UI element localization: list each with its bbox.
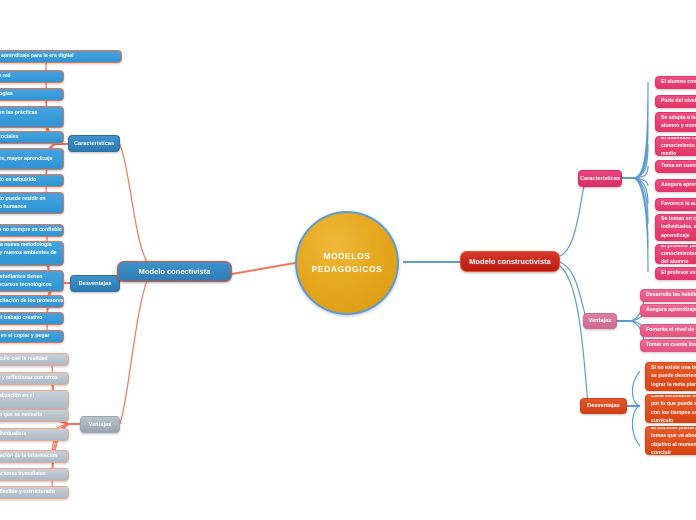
leaf-node[interactable]: El alumno construye su conocimiento [655,76,696,89]
category-desventajas-conectivista[interactable]: Desventajas [70,275,120,292]
leaf-node[interactable]: Se puede caer en el copiar y pegar [0,330,64,343]
category-caracteristicas-constructivista[interactable]: Características [578,170,622,187]
category-ventajas-constructivista[interactable]: Ventajas [583,313,617,329]
category-desventajas-constructivista[interactable]: Desventajas [580,398,627,414]
leaf-node[interactable]: Puede limitar el trabajo creativo [0,312,64,325]
center-title-line2: PEDAGOGICOS [312,263,383,276]
leaf-node[interactable]: No todos los estudiantes tienen acceso a… [0,270,64,292]
leaf-node[interactable]: Uso de redes sociales [0,131,64,144]
center-title-line1: MODELOS [312,250,383,263]
leaf-node[interactable]: Toma en cuenta los saberes previos [655,160,696,173]
leaf-node[interactable]: Asegura aprendizajes significativos [655,179,696,192]
leaf-node[interactable]: Aprendizaje en red [0,70,64,83]
category-caracteristicas-conectivista[interactable]: Características [68,135,120,152]
leaf-node[interactable]: Es un proceso individualista [0,428,69,441]
branch-modelo-conectivista[interactable]: Modelo conectivista [117,261,232,282]
leaf-node[interactable]: Si no existe una buena planificación se … [645,362,696,391]
leaf-node[interactable]: Nuevas tecnologías [0,88,64,101]
category-ventajas-conectivista[interactable]: Ventajas [80,416,120,433]
leaf-node[interactable]: Desarrolla las habilidades del pensamien… [640,289,696,302]
leaf-node[interactable]: El conocimiento es adquirido [0,174,64,187]
leaf-node[interactable]: Relaciona el currículo con la realidad [0,353,69,366]
leaf-node[interactable]: Se toman en cuenta las diferencias indiv… [655,214,696,241]
leaf-node[interactable]: Fomenta el nivel de desarrollo del alumn… [640,324,696,337]
leaf-node[interactable]: Tomar en cuenta los saberes previos [640,339,696,352]
leaf-node[interactable]: El docente puede perderse en los temas q… [645,426,696,455]
leaf-node[interactable]: Parte del nivel de desarrollo del alumno [655,95,696,108]
leaf-node[interactable]: Se adapta a las necesidades del alumno y… [655,112,696,132]
leaf-node[interactable]: El profesor es un mediador del aprendiza… [655,267,696,280]
leaf-node[interactable]: Es una teoría del aprendizaje para la er… [0,50,122,63]
leaf-node[interactable]: El conocimiento puede residir en disposi… [0,192,64,214]
mindmap-canvas[interactable]: MODELOS PEDAGOGICOS Modelo conectivista … [0,0,696,520]
leaf-node[interactable]: El aprendizaje es flexible y estructurad… [0,486,69,499]
leaf-node[interactable]: Más conexiones, mayor aprendizaje [0,148,64,170]
leaf-node[interactable]: Permite comunicaciones inmediatas [0,468,69,481]
leaf-node[interactable]: Cada estudiante lleva su propio ritmo, p… [645,394,696,423]
leaf-node[interactable]: Se requiere una nueva metodología de ens… [0,241,64,266]
leaf-node[interactable]: Favorece la autonomía del estudiante [655,198,696,211]
leaf-node[interactable]: Innovaciones en las prácticas pedagógica… [0,106,64,128]
leaf-node[interactable]: Requiere capacitación de los profesores [0,295,64,308]
branch-modelo-constructivista[interactable]: Modelo constructivista [460,251,560,272]
leaf-node[interactable]: Asegura aprendizajes significativos [640,304,696,317]
leaf-node[interactable]: Promueve la actualización en el conocimi… [0,390,69,410]
leaf-node[interactable]: Permite compartir y reflexionar con otro… [0,372,69,385]
leaf-node[interactable]: La información no siempre es confiable [0,224,64,237]
leaf-node[interactable]: Se aprende sólo lo que se necesita [0,409,69,422]
center-node[interactable]: MODELOS PEDAGOGICOS [295,211,399,315]
leaf-node[interactable]: Facilita la organización de la informaci… [0,450,69,463]
leaf-node[interactable]: El individuo construye su conocimiento i… [655,136,696,156]
leaf-node[interactable]: El profesor parte de los conocimientos y… [655,244,696,264]
